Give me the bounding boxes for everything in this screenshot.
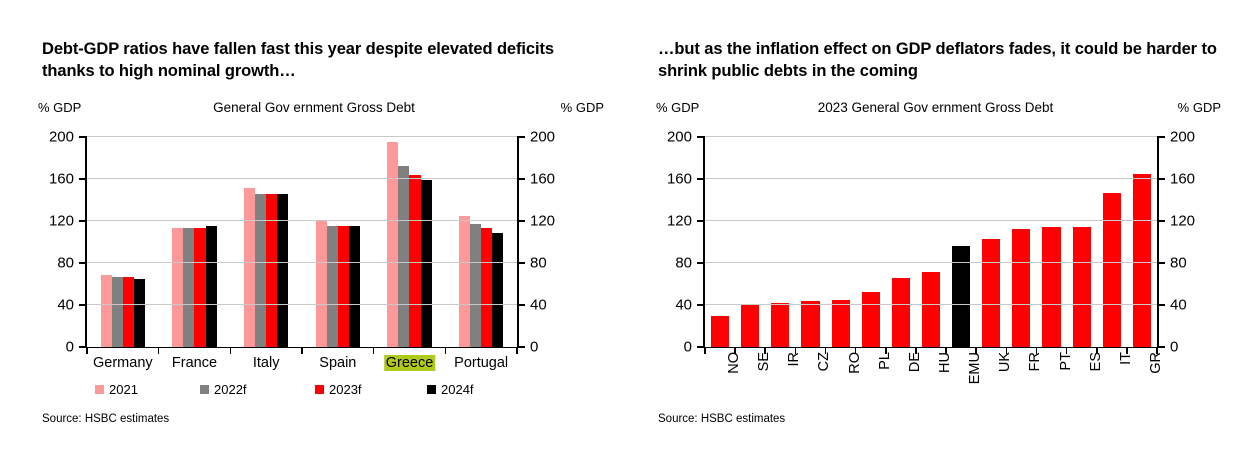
bar [183, 228, 194, 347]
category-label-fr: FR [1027, 352, 1043, 371]
legend-label: 2023f [329, 382, 362, 397]
bar [101, 275, 112, 347]
bar [172, 228, 183, 347]
bar [112, 277, 123, 347]
right-panel-headline: …but as the inflation effect on GDP defl… [658, 38, 1218, 83]
category-label-uk: UK [997, 352, 1013, 372]
bar-group [244, 137, 288, 347]
category-label-pt: PT [1058, 352, 1074, 371]
legend-swatch-icon [95, 385, 104, 394]
bar [1012, 229, 1030, 347]
y-axis-label: 200 [1170, 130, 1195, 145]
y-axis-label: 40 [1170, 298, 1187, 313]
legend-swatch-icon [427, 385, 436, 394]
bar [255, 194, 266, 347]
bar [277, 194, 288, 347]
x-axis-tick [704, 347, 706, 354]
legend-label: 2022f [214, 382, 247, 397]
bar [194, 228, 205, 347]
category-label-es: ES [1088, 352, 1104, 371]
bar [459, 216, 470, 347]
y-axis-label: 160 [667, 172, 692, 187]
y-axis-label: 200 [667, 130, 692, 145]
left-chart-panel: Debt-GDP ratios have fallen fast this ye… [0, 0, 628, 454]
y-axis-label: 0 [530, 340, 538, 355]
bar [327, 226, 338, 347]
left-chart-y-axis-right [517, 136, 519, 347]
bar [421, 180, 432, 347]
bar-group [101, 137, 145, 347]
category-label-germany: Germany [93, 355, 153, 371]
category-label-it: IT [1118, 352, 1134, 365]
bar [1103, 193, 1121, 347]
x-axis-tick [516, 347, 518, 354]
bar [771, 303, 789, 347]
category-label-italy: Italy [253, 355, 280, 371]
bar [832, 300, 850, 347]
y-axis-tick [1158, 262, 1165, 264]
left-chart-bars [87, 137, 517, 347]
category-label-no: NO [726, 352, 742, 374]
category-label-spain: Spain [319, 355, 356, 371]
y-axis-tick [1158, 136, 1165, 138]
category-label-ir: IR [786, 352, 802, 367]
right-chart-source: Source: HSBC estimates [658, 413, 785, 425]
gridline [705, 136, 1157, 137]
y-axis-label: 80 [57, 256, 74, 271]
bar [492, 233, 503, 347]
y-axis-label: 0 [66, 340, 74, 355]
left-panel-headline: Debt-GDP ratios have fallen fast this ye… [42, 38, 582, 83]
right-chart-plot-area: 0040408080120120160160200200 [705, 137, 1157, 347]
bar [316, 221, 327, 347]
gridline [705, 304, 1157, 305]
y-axis-label: 0 [1170, 340, 1178, 355]
y-axis-tick [79, 220, 86, 222]
category-label-france: France [172, 355, 217, 371]
legend-item-2022f[interactable]: 2022f [200, 382, 247, 397]
left-chart-legend: 20212022f2023f2024f [87, 382, 517, 400]
right-chart-bars [705, 137, 1157, 347]
y-axis-tick [697, 304, 704, 306]
bar-group [316, 137, 360, 347]
figure-sheet: Debt-GDP ratios have fallen fast this ye… [0, 0, 1243, 454]
y-axis-tick [79, 346, 86, 348]
legend-swatch-icon [315, 385, 324, 394]
y-axis-label: 120 [667, 214, 692, 229]
y-axis-label: 0 [684, 340, 692, 355]
y-axis-label: 80 [675, 256, 692, 271]
bar-group [172, 137, 216, 347]
x-axis-tick [301, 347, 303, 354]
y-axis-label: 120 [49, 214, 74, 229]
gridline [87, 178, 517, 179]
category-label-ro: RO [847, 352, 863, 374]
y-axis-tick [518, 262, 525, 264]
gridline [87, 262, 517, 263]
legend-item-2024f[interactable]: 2024f [427, 382, 474, 397]
y-axis-tick [79, 262, 86, 264]
y-axis-label: 40 [530, 298, 547, 313]
y-axis-label: 80 [530, 256, 547, 271]
legend-item-2023f[interactable]: 2023f [315, 382, 362, 397]
category-label-portugal: Portugal [454, 355, 508, 371]
y-axis-label: 200 [530, 130, 555, 145]
y-axis-tick [697, 346, 704, 348]
gridline [87, 304, 517, 305]
bar [711, 316, 729, 348]
bar [244, 188, 255, 347]
y-axis-tick [1158, 346, 1165, 348]
legend-label: 2021 [109, 382, 138, 397]
category-label-emu: EMU [967, 352, 983, 384]
y-axis-label: 200 [49, 130, 74, 145]
category-label-greece: Greece [384, 355, 436, 371]
right-chart-y-axis-right [1157, 136, 1159, 347]
y-axis-tick [79, 136, 86, 138]
y-axis-label: 160 [530, 172, 555, 187]
y-axis-tick [518, 304, 525, 306]
bar [1073, 227, 1091, 347]
y-axis-tick [697, 136, 704, 138]
y-axis-tick [697, 178, 704, 180]
y-axis-tick [518, 136, 525, 138]
x-axis-tick [445, 347, 447, 354]
y-axis-tick [518, 346, 525, 348]
y-axis-tick [79, 304, 86, 306]
gridline [87, 136, 517, 137]
bar [1042, 227, 1060, 347]
y-axis-tick [1158, 220, 1165, 222]
bar [387, 142, 398, 347]
y-axis-tick [518, 220, 525, 222]
category-label-gr: GR [1148, 352, 1164, 374]
bar [266, 194, 277, 347]
y-axis-label: 120 [1170, 214, 1195, 229]
category-label-hu: HU [937, 352, 953, 373]
bar [741, 304, 759, 347]
left-chart-source: Source: HSBC estimates [42, 413, 169, 425]
bar-group [459, 137, 503, 347]
y-axis-label: 160 [1170, 172, 1195, 187]
bar [1133, 174, 1151, 347]
bar [349, 226, 360, 347]
bar [892, 278, 910, 347]
gridline [705, 178, 1157, 179]
y-axis-label: 80 [1170, 256, 1187, 271]
x-axis-tick [86, 347, 88, 354]
bar [922, 272, 940, 347]
legend-item-2021[interactable]: 2021 [95, 382, 138, 397]
x-axis-tick [373, 347, 375, 354]
bar [801, 301, 819, 347]
y-axis-label: 160 [49, 172, 74, 187]
legend-swatch-icon [200, 385, 209, 394]
bar [398, 166, 409, 347]
highlighted-category-label: Greece [384, 355, 436, 371]
category-label-se: SE [756, 352, 772, 371]
bar [481, 228, 492, 347]
gridline [705, 262, 1157, 263]
bar [134, 279, 145, 347]
category-label-cz: CZ [816, 352, 832, 371]
x-axis-tick [158, 347, 160, 354]
y-axis-label: 40 [675, 298, 692, 313]
y-axis-tick [697, 262, 704, 264]
right-chart-panel: …but as the inflation effect on GDP defl… [628, 0, 1243, 454]
bar [206, 226, 217, 347]
x-axis-tick [230, 347, 232, 354]
bar [338, 226, 349, 347]
bar [862, 292, 880, 347]
y-axis-tick [1158, 304, 1165, 306]
legend-label: 2024f [441, 382, 474, 397]
gridline [705, 220, 1157, 221]
right-chart-title: 2023 General Gov ernment Gross Debt [628, 100, 1243, 115]
bar-group [387, 137, 431, 347]
category-label-pl: PL [877, 352, 893, 370]
bar [982, 239, 1000, 347]
bar [409, 175, 420, 347]
bar [470, 224, 481, 347]
left-chart-title: General Gov ernment Gross Debt [0, 100, 628, 115]
gridline [87, 220, 517, 221]
bar [123, 277, 134, 347]
category-label-de: DE [907, 352, 923, 372]
y-axis-label: 40 [57, 298, 74, 313]
y-axis-label: 120 [530, 214, 555, 229]
y-axis-tick [79, 178, 86, 180]
y-axis-tick [518, 178, 525, 180]
y-axis-tick [1158, 178, 1165, 180]
left-chart-plot-area: 0040408080120120160160200200 [87, 137, 517, 347]
y-axis-tick [697, 220, 704, 222]
